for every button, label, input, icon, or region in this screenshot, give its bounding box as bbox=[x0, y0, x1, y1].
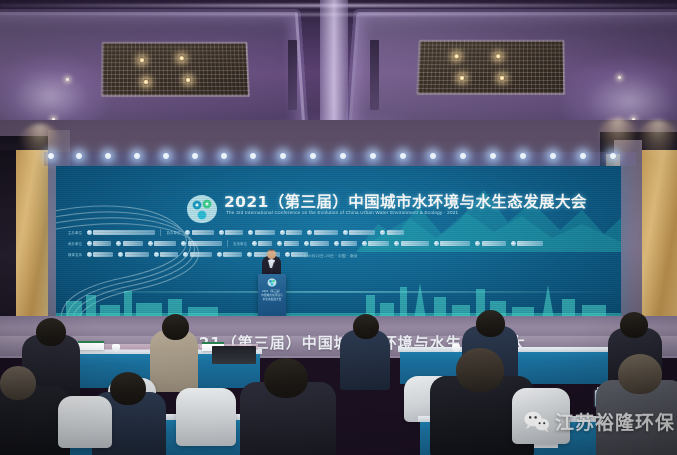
water-cup bbox=[452, 344, 460, 352]
podium: 2021（第三届） 中国城市水环境与 水生态发展大会 bbox=[258, 274, 286, 322]
sponsor-logo-mark bbox=[247, 252, 252, 257]
sponsor-logo-mark bbox=[87, 252, 92, 257]
conference-title: 2021（第三届）中国城市水环境与水生态发展大会 bbox=[224, 190, 587, 212]
sponsor-logo bbox=[154, 252, 179, 257]
sponsor-logo bbox=[219, 230, 244, 235]
sponsor-row-label: 媒体支持 bbox=[68, 252, 82, 257]
audience-person-head bbox=[264, 358, 308, 398]
sponsor-divider bbox=[227, 240, 228, 247]
sponsor-divider bbox=[160, 229, 161, 236]
sponsor-logo bbox=[307, 230, 338, 235]
sponsor-logo-wordmark bbox=[93, 230, 155, 235]
ceiling-vent bbox=[370, 40, 379, 110]
chair bbox=[176, 388, 236, 446]
sponsor-logo-mark bbox=[277, 241, 282, 246]
sponsor-row: 主办单位协办单位 bbox=[68, 228, 613, 237]
sponsor-row: 承办单位支持单位 bbox=[68, 239, 613, 248]
sponsor-logo-mark bbox=[148, 241, 153, 246]
sponsor-logo-wordmark bbox=[517, 241, 543, 246]
sponsor-logo bbox=[87, 252, 114, 257]
audience-person-head bbox=[36, 318, 66, 346]
sponsor-logo-mark bbox=[183, 252, 188, 257]
sponsor-logo bbox=[304, 241, 330, 246]
sponsor-logo-wordmark bbox=[368, 241, 389, 246]
wall-panel-left bbox=[14, 150, 48, 328]
sponsor-logo-wordmark bbox=[387, 230, 404, 235]
sponsor-logo-mark bbox=[475, 241, 480, 246]
sponsor-logo-wordmark bbox=[190, 252, 212, 257]
podium-line-3: 水生态发展大会 bbox=[261, 297, 283, 301]
sponsor-logo-mark bbox=[154, 252, 159, 257]
sponsor-logo bbox=[116, 241, 143, 246]
sponsor-logo bbox=[87, 230, 156, 235]
sponsor-logo-mark bbox=[394, 241, 399, 246]
sponsor-logo-mark bbox=[334, 241, 339, 246]
speaker-head bbox=[267, 249, 276, 259]
led-stage-backdrop: 2021（第三届）中国城市水环境与水生态发展大会 The 3rd Interna… bbox=[56, 166, 621, 319]
sponsor-logo bbox=[252, 241, 273, 246]
sponsor-logo bbox=[362, 241, 390, 246]
sponsor-logo bbox=[277, 241, 299, 246]
audience-person-head bbox=[620, 312, 648, 338]
chair bbox=[58, 396, 112, 448]
sponsor-logo-wordmark bbox=[123, 241, 143, 246]
sponsor-logo bbox=[380, 230, 404, 235]
sponsor-logo-mark bbox=[219, 230, 224, 235]
sponsor-logo bbox=[148, 241, 177, 246]
sponsor-logo-wordmark bbox=[482, 241, 506, 246]
audience-person-body bbox=[340, 330, 390, 390]
watermark: 江苏裕隆环保 bbox=[524, 408, 675, 435]
sponsor-logo-mark bbox=[285, 252, 290, 257]
sponsor-logo bbox=[280, 230, 303, 235]
sponsor-row-label: 主办单位 bbox=[68, 230, 82, 235]
sponsor-logo-mark bbox=[87, 230, 92, 235]
sponsor-logo-wordmark bbox=[188, 241, 222, 246]
sponsor-logo bbox=[183, 252, 212, 257]
sponsor-logo-wordmark bbox=[192, 230, 214, 235]
sponsor-logo-mark bbox=[511, 241, 516, 246]
sponsor-logo-wordmark bbox=[223, 252, 242, 257]
wall-spotlight bbox=[636, 120, 677, 162]
water-cup bbox=[112, 344, 120, 352]
sponsor-logo-mark bbox=[280, 230, 285, 235]
audience-person-head bbox=[618, 354, 662, 394]
laptop bbox=[212, 346, 256, 364]
sponsor-logo bbox=[217, 252, 243, 257]
watermark-text: 江苏裕隆环保 bbox=[555, 408, 675, 435]
sponsor-logo-wordmark bbox=[258, 241, 272, 246]
sponsor-logo-wordmark bbox=[255, 230, 275, 235]
sponsor-logo-mark bbox=[307, 230, 312, 235]
sponsor-logo-wordmark bbox=[93, 241, 111, 246]
sponsor-logo bbox=[394, 241, 429, 246]
sponsor-logo bbox=[475, 241, 506, 246]
audience-person-head bbox=[456, 348, 504, 392]
sponsor-logo-wordmark bbox=[349, 230, 375, 235]
sponsor-logo-wordmark bbox=[160, 252, 178, 257]
sponsor-logo-wordmark bbox=[284, 241, 299, 246]
sponsor-logo-mark bbox=[304, 241, 309, 246]
audience-person-head bbox=[162, 314, 189, 340]
conference-photo-scene: 2021（第三届）中国城市水环境与水生态发展大会 The 3rd Interna… bbox=[0, 0, 677, 455]
audience-person-head bbox=[0, 366, 36, 400]
ceiling-vent bbox=[288, 40, 297, 110]
name-card bbox=[78, 341, 104, 350]
sponsor-logo-wordmark bbox=[225, 230, 243, 235]
sponsor-logo bbox=[87, 241, 112, 246]
sponsor-row-label: 承办单位 bbox=[68, 241, 82, 246]
sponsor-logo-wordmark bbox=[401, 241, 429, 246]
sponsor-logo-mark bbox=[252, 241, 257, 246]
sponsor-logo-mark bbox=[116, 241, 121, 246]
sponsor-logo-mark bbox=[217, 252, 222, 257]
sponsor-logo-mark bbox=[118, 252, 123, 257]
water-droplet-trefoil-logo bbox=[185, 194, 219, 224]
sponsor-group-label: 协办单位 bbox=[166, 230, 180, 235]
sponsor-logo-mark bbox=[380, 230, 385, 235]
conference-date-line: 2021年10月22日-23日 · 中国 · 南京 bbox=[294, 254, 358, 259]
sponsor-logo-mark bbox=[434, 241, 439, 246]
sponsor-logo-wordmark bbox=[440, 241, 470, 246]
sponsor-logo bbox=[248, 230, 275, 235]
wall-recess-left bbox=[0, 150, 16, 326]
city-skyline-graphic bbox=[56, 273, 621, 319]
sponsor-logo bbox=[334, 241, 357, 246]
wall-panel-right bbox=[640, 150, 677, 330]
sponsor-logo bbox=[343, 230, 376, 235]
sponsor-logo bbox=[511, 241, 544, 246]
sponsor-logo bbox=[185, 230, 214, 235]
audience-person-head bbox=[353, 314, 379, 339]
wechat-icon bbox=[524, 411, 550, 433]
sponsor-logo-wordmark bbox=[314, 230, 338, 235]
sponsor-logo-wordmark bbox=[310, 241, 329, 246]
conference-subtitle: The 3rd International Conference on the … bbox=[226, 210, 458, 215]
audience-person-head bbox=[476, 310, 505, 337]
podium-logo-icon bbox=[267, 278, 277, 287]
sponsor-logo-mark bbox=[248, 230, 253, 235]
sponsor-logo-wordmark bbox=[154, 241, 176, 246]
sponsor-logo-mark bbox=[185, 230, 190, 235]
sponsor-logo bbox=[118, 252, 149, 257]
sponsor-logo bbox=[434, 241, 471, 246]
sponsor-logo-mark bbox=[87, 241, 92, 246]
sponsor-group-label: 支持单位 bbox=[233, 241, 247, 246]
sponsor-logo-wordmark bbox=[341, 241, 357, 246]
sponsor-logo-mark bbox=[181, 241, 186, 246]
sponsor-logo-wordmark bbox=[286, 230, 302, 235]
sponsor-logo-wordmark bbox=[125, 252, 149, 257]
sponsor-logo-mark bbox=[362, 241, 367, 246]
sponsor-logo-wordmark bbox=[93, 252, 113, 257]
sponsor-logo bbox=[181, 241, 222, 246]
sponsor-logo-mark bbox=[343, 230, 348, 235]
audience-person-head bbox=[110, 372, 146, 405]
